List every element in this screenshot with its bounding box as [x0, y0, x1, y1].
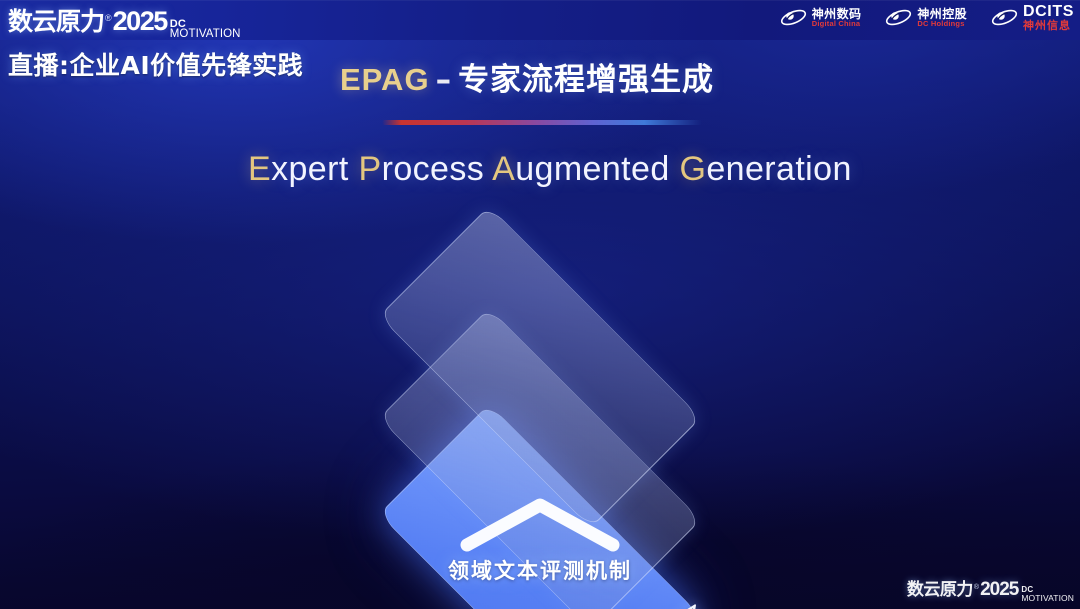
subtitle-initial: E	[248, 150, 271, 188]
partner-logos: 神州数码 Digital China 神州控股 DC Holdings	[780, 4, 1074, 32]
swirl-icon	[991, 7, 1018, 28]
swirl-icon	[780, 7, 807, 28]
brand-year: 2025	[113, 6, 167, 37]
subtitle-word-process: Process	[359, 150, 485, 188]
subtitle-initial: P	[359, 150, 382, 188]
subtitle-word-augmented: Augmented	[492, 150, 670, 188]
partner-text: DCITS 神州信息	[1023, 4, 1074, 32]
partner-name-en: DC Holdings	[917, 20, 967, 28]
subtitle-initial: A	[492, 150, 515, 188]
headline-dash: –	[430, 62, 459, 98]
subtitle-word-expert: Expert	[248, 150, 349, 188]
subtitle-rest: rocess	[382, 150, 485, 188]
partner-name-en: DCITS	[1023, 4, 1074, 20]
partner-logo-dcits: DCITS 神州信息	[991, 4, 1074, 32]
subtitle-initial: G	[680, 150, 707, 188]
partner-text: 神州数码 Digital China	[812, 8, 862, 28]
partner-text: 神州控股 DC Holdings	[917, 8, 967, 28]
partner-logo-dc-holdings: 神州控股 DC Holdings	[885, 7, 967, 28]
watermark-year: 2025	[980, 579, 1018, 601]
watermark-motivation-label: MOTIVATION	[1021, 594, 1074, 602]
accent-gradient-rule	[382, 120, 702, 125]
partner-logo-digital-china: 神州数码 Digital China	[780, 7, 862, 28]
brand-dc-motivation: DC MOTIVATION	[170, 19, 241, 40]
watermark-dc-motivation: DC MOTIVATION	[1021, 586, 1074, 602]
corner-watermark: 数云原力 ® 2025 DC MOTIVATION	[907, 575, 1074, 605]
headline-chinese: 专家流程增强生成	[458, 62, 714, 98]
brand-registered-mark: ®	[105, 13, 112, 23]
swirl-icon	[885, 7, 912, 28]
watermark-registered-mark: ®	[974, 584, 979, 591]
subtitle-word-generation: Generation	[680, 150, 852, 188]
slide-canvas: 数云原力 ® 2025 DC MOTIVATION 直播:企业AI价值先锋实践 …	[0, 0, 1080, 609]
layered-stack-diagram: 领域文本评测机制 Dynamic MOE 长文本记忆 三类语义建模模块	[250, 225, 830, 595]
slide-subtitle: Expert Process Augmented Generation	[248, 150, 852, 189]
brand-motivation-label: MOTIVATION	[170, 29, 241, 40]
headline-acronym: EPAG	[340, 62, 430, 97]
partner-name-en: Digital China	[812, 20, 862, 28]
subtitle-rest: ugmented	[515, 150, 669, 188]
brand-name-cn: 数云原力	[8, 2, 104, 38]
subtitle-rest: eneration	[706, 150, 851, 188]
partner-name-cn: 神州信息	[1023, 20, 1074, 31]
slide-headline: EPAG–专家流程增强生成	[340, 54, 714, 99]
watermark-name-cn: 数云原力	[907, 575, 973, 600]
live-title: 直播:企业AI价值先锋实践	[8, 46, 303, 82]
brand-logo: 数云原力 ® 2025 DC MOTIVATION	[8, 2, 241, 43]
subtitle-rest: xpert	[271, 150, 349, 188]
